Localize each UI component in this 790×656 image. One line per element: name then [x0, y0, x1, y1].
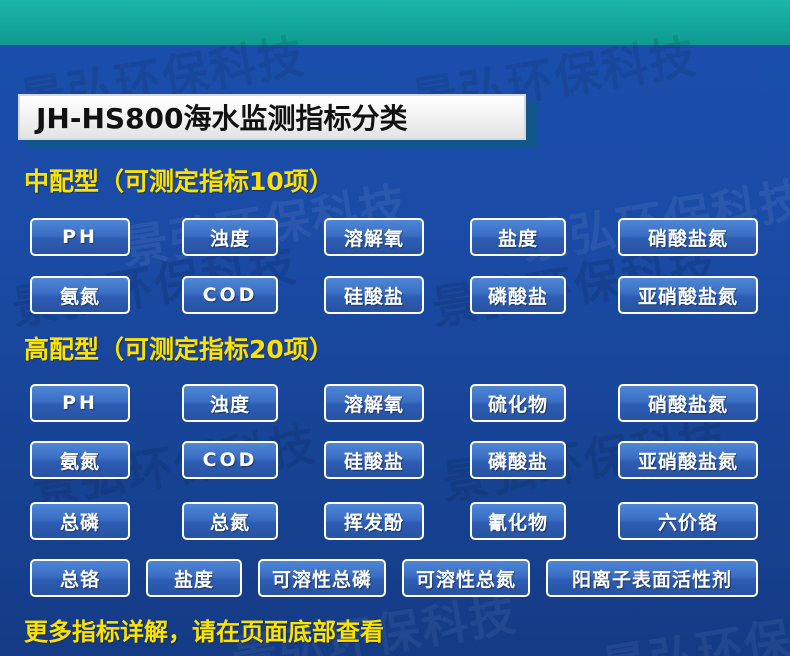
- indicator-chip-label: 盐度: [498, 224, 538, 251]
- page-root: 景弘环保科技 景弘环保科技 景弘环保科技 景弘环保科技 景弘环保科技 景弘环保科…: [0, 0, 790, 656]
- indicator-chip[interactable]: 硝酸盐氮: [618, 384, 758, 422]
- indicator-chip[interactable]: PH: [30, 384, 130, 422]
- indicator-chip[interactable]: 可溶性总磷: [258, 559, 386, 597]
- indicator-chip-label: 亚硝酸盐氮: [638, 447, 738, 474]
- indicator-chip-label: 硅酸盐: [344, 282, 404, 309]
- indicator-chip[interactable]: 盐度: [146, 559, 242, 597]
- indicator-chip-label: 磷酸盐: [488, 447, 548, 474]
- indicator-chip[interactable]: 氰化物: [470, 502, 566, 540]
- indicator-chip[interactable]: 六价铬: [618, 502, 758, 540]
- footer-note: 更多指标详解，请在页面底部查看: [24, 612, 384, 647]
- indicator-chip-label: 硝酸盐氮: [648, 224, 728, 251]
- indicator-chip[interactable]: 硝酸盐氮: [618, 218, 758, 256]
- indicator-chip[interactable]: 硅酸盐: [324, 441, 424, 479]
- indicator-chip[interactable]: 硅酸盐: [324, 276, 424, 314]
- indicator-chip-label: 硅酸盐: [344, 447, 404, 474]
- indicator-chip-label: 氰化物: [488, 508, 548, 535]
- indicator-chip[interactable]: 硫化物: [470, 384, 566, 422]
- indicator-chip-label: 浊度: [210, 224, 250, 251]
- indicator-chip[interactable]: COD: [182, 276, 278, 314]
- indicator-chip-label: 挥发酚: [344, 508, 404, 535]
- top-teal-band: [0, 0, 790, 45]
- indicator-chip-label: 硫化物: [488, 390, 548, 417]
- indicator-chip-label: 溶解氧: [344, 390, 404, 417]
- indicator-chip-label: COD: [203, 449, 258, 471]
- indicator-chip[interactable]: 浊度: [182, 384, 278, 422]
- indicator-chip-label: COD: [203, 284, 258, 306]
- indicator-chip[interactable]: 溶解氧: [324, 384, 424, 422]
- indicator-chip-label: 氨氮: [60, 282, 100, 309]
- indicator-chip[interactable]: COD: [182, 441, 278, 479]
- title-plaque-box: JH-HS800海水监测指标分类: [18, 94, 526, 140]
- indicator-chip[interactable]: 可溶性总氮: [402, 559, 530, 597]
- indicator-chip-label: 氨氮: [60, 447, 100, 474]
- indicator-chip[interactable]: 氨氮: [30, 276, 130, 314]
- indicator-chip[interactable]: 挥发酚: [324, 502, 424, 540]
- section-heading-mid: 中配型（可测定指标10项）: [24, 162, 334, 198]
- indicator-chip-label: 可溶性总氮: [416, 565, 516, 592]
- indicator-chip[interactable]: 亚硝酸盐氮: [618, 276, 758, 314]
- indicator-chip[interactable]: 盐度: [470, 218, 566, 256]
- indicator-chip[interactable]: 溶解氧: [324, 218, 424, 256]
- indicator-chip[interactable]: 总铬: [30, 559, 130, 597]
- indicator-chip[interactable]: 磷酸盐: [470, 276, 566, 314]
- indicator-chip-label: 磷酸盐: [488, 282, 548, 309]
- indicator-chip[interactable]: 浊度: [182, 218, 278, 256]
- indicator-chip-label: 盐度: [174, 565, 214, 592]
- indicator-chip[interactable]: 总磷: [30, 502, 130, 540]
- indicator-chip-label: 可溶性总磷: [272, 565, 372, 592]
- watermark-text: 景弘环保科技: [597, 588, 790, 656]
- indicator-chip[interactable]: 磷酸盐: [470, 441, 566, 479]
- indicator-chip-label: 总磷: [60, 508, 100, 535]
- indicator-chip-label: PH: [62, 392, 98, 414]
- indicator-chip-label: 总铬: [60, 565, 100, 592]
- indicator-chip-label: 溶解氧: [344, 224, 404, 251]
- indicator-chip-label: 亚硝酸盐氮: [638, 282, 738, 309]
- title-plaque: JH-HS800海水监测指标分类: [18, 94, 538, 144]
- indicator-chip-label: 浊度: [210, 390, 250, 417]
- indicator-chip[interactable]: 亚硝酸盐氮: [618, 441, 758, 479]
- indicator-chip-label: 总氮: [210, 508, 250, 535]
- indicator-chip[interactable]: 氨氮: [30, 441, 130, 479]
- indicator-chip-label: 阳离子表面活性剂: [572, 565, 732, 592]
- indicator-chip[interactable]: 总氮: [182, 502, 278, 540]
- indicator-chip[interactable]: 阳离子表面活性剂: [546, 559, 758, 597]
- indicator-chip-label: 六价铬: [658, 508, 718, 535]
- section-heading-high: 高配型（可测定指标20项）: [24, 330, 334, 366]
- indicator-chip-label: 硝酸盐氮: [648, 390, 728, 417]
- indicator-chip[interactable]: PH: [30, 218, 130, 256]
- indicator-chip-label: PH: [62, 226, 98, 248]
- page-title: JH-HS800海水监测指标分类: [36, 97, 408, 137]
